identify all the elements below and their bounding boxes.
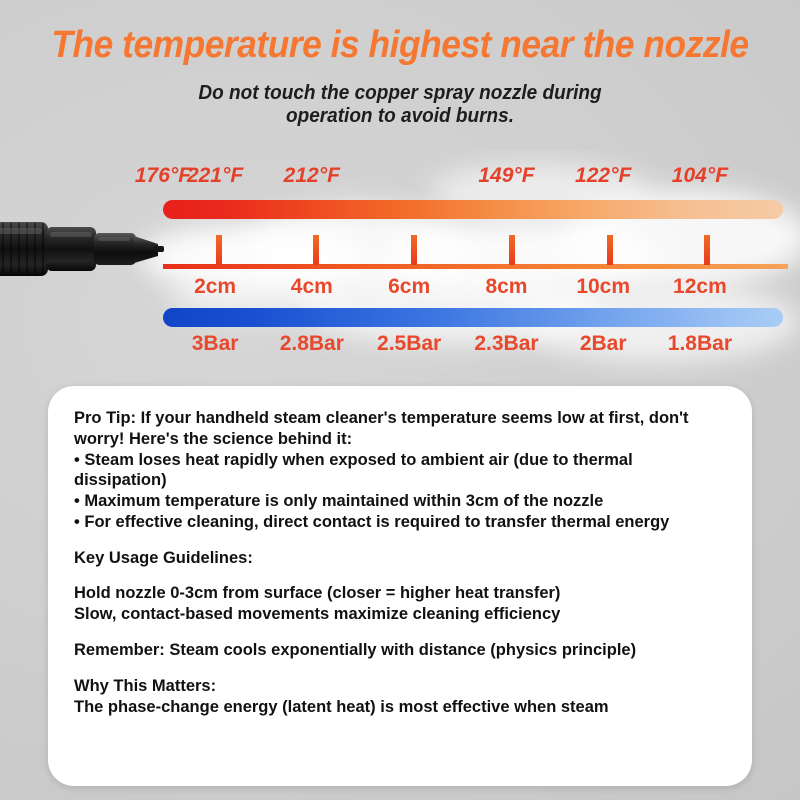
temperature-label-2: 176°F xyxy=(135,164,191,188)
distance-label-1: 4cm xyxy=(291,275,333,299)
axis-tick-4 xyxy=(607,235,613,265)
distance-label-5: 12cm xyxy=(673,275,727,299)
page-title: The temperature is highest near the nozz… xyxy=(28,26,772,66)
guideline-movement: Slow, contact-based movements maximize c… xyxy=(74,604,726,625)
pressure-label-4: 2Bar xyxy=(580,332,627,356)
temperature-label-0: 221°F xyxy=(187,164,243,188)
axis-tick-2 xyxy=(411,235,417,265)
temperature-label-3: 149°F xyxy=(478,164,534,188)
pro-tip-text: Pro Tip: If your handheld steam cleaner'… xyxy=(74,408,726,450)
temperature-label-5: 104°F xyxy=(672,164,728,188)
bullet-contact: • For effective cleaning, direct contact… xyxy=(74,512,726,533)
info-card: Pro Tip: If your handheld steam cleaner'… xyxy=(48,386,752,786)
subtitle-line-1: Do not touch the copper spray nozzle dur… xyxy=(20,82,780,106)
temperature-distance-diagram: 221°F 212°F 176°F 149°F 122°F 104°F 2cm … xyxy=(0,150,800,380)
page-subtitle: Do not touch the copper spray nozzle dur… xyxy=(20,82,780,129)
axis-tick-1 xyxy=(313,235,319,265)
axis-tick-3 xyxy=(509,235,515,265)
temperature-label-1: 212°F xyxy=(284,164,340,188)
header: The temperature is highest near the nozz… xyxy=(0,0,800,129)
axis-tick-5 xyxy=(704,235,710,265)
bullet-thermal: • Steam loses heat rapidly when exposed … xyxy=(74,450,726,492)
guideline-distance: Hold nozzle 0-3cm from surface (closer =… xyxy=(74,583,726,604)
pressure-label-3: 2.3Bar xyxy=(474,332,538,356)
pressure-label-5: 1.8Bar xyxy=(668,332,732,356)
guidelines-heading: Key Usage Guidelines: xyxy=(74,548,726,569)
why-text: The phase-change energy (latent heat) is… xyxy=(74,697,726,718)
distance-label-0: 2cm xyxy=(194,275,236,299)
temperature-label-4: 122°F xyxy=(575,164,631,188)
subtitle-line-2: operation to avoid burns. xyxy=(20,105,780,129)
pressure-gradient-bar xyxy=(163,308,783,327)
steam-nozzle-icon xyxy=(0,208,176,286)
distance-label-2: 6cm xyxy=(388,275,430,299)
why-heading: Why This Matters: xyxy=(74,676,726,697)
axis-line xyxy=(163,264,788,269)
distance-label-3: 8cm xyxy=(485,275,527,299)
distance-label-4: 10cm xyxy=(576,275,630,299)
pressure-label-2: 2.5Bar xyxy=(377,332,441,356)
axis-tick-0 xyxy=(216,235,222,265)
pressure-label-0: 3Bar xyxy=(192,332,239,356)
temperature-gradient-bar xyxy=(163,200,783,219)
pressure-label-1: 2.8Bar xyxy=(280,332,344,356)
bullet-max-temp: • Maximum temperature is only maintained… xyxy=(74,491,726,512)
distance-axis xyxy=(163,264,788,265)
remember-text: Remember: Steam cools exponentially with… xyxy=(74,640,726,661)
